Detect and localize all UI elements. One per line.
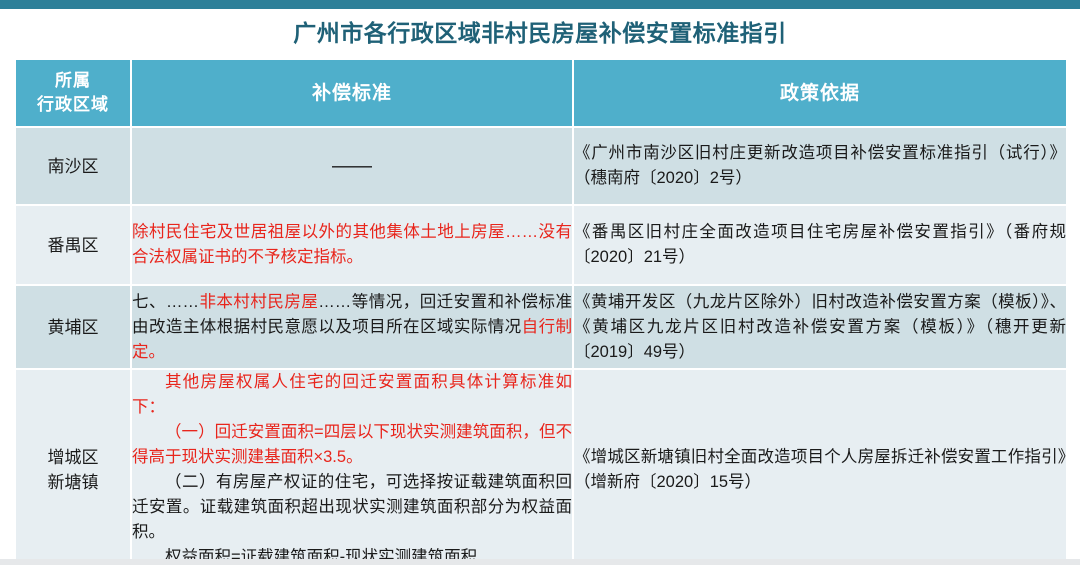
cell-policy: 《黄埔开发区（九龙片区除外）旧村改造补偿安置方案（模板）》、《黄埔区九龙片区旧村… <box>574 286 1066 368</box>
cell-region: 番禺区 <box>16 206 130 284</box>
cell-policy: 《广州市南沙区旧村庄更新改造项目补偿安置标准指引（试行）》（穗南府〔2020〕2… <box>574 128 1066 204</box>
header-row: 所属 行政区域 补偿标准 政策依据 <box>16 60 1066 126</box>
table-header: 所属 行政区域 补偿标准 政策依据 <box>16 60 1066 126</box>
column-header-region-line2: 行政区域 <box>16 93 130 117</box>
cell-policy: 《番禺区旧村庄全面改造项目住宅房屋补偿安置指引》（番府规〔2020〕21号） <box>574 206 1066 284</box>
column-header-standard: 补偿标准 <box>132 60 572 126</box>
cell-region: 南沙区 <box>16 128 130 204</box>
standard-paragraph: 除村民住宅及世居祖屋以外的其他集体土地上房屋……没有合法权属证书的不予核定指标。 <box>132 220 572 270</box>
table-row: 番禺区 除村民住宅及世居祖屋以外的其他集体土地上房屋……没有合法权属证书的不予核… <box>16 206 1066 284</box>
document-page: 广州市各行政区域非村民房屋补偿安置标准指引 所属 行政区域 补偿标准 政策依据 … <box>0 0 1080 565</box>
standard-paragraph-3: （二）有房屋产权证的住宅，可选择按证载建筑面积回迁安置。证载建筑面积超出现状实测… <box>132 470 572 545</box>
top-accent-bar <box>0 0 1080 9</box>
compensation-standards-table: 所属 行政区域 补偿标准 政策依据 南沙区 —— 《广州市南沙区旧村庄更新改造项… <box>14 58 1068 565</box>
standard-segment-red: 除村民住宅及世居祖屋以外的其他集体土地上房屋……没有合法权属证书的不予核定指标。 <box>132 223 572 266</box>
standard-paragraph: 七、……非本村村民房屋……等情况，回迁安置和补偿标准由改造主体根据村民意愿以及项… <box>132 290 572 365</box>
standard-paragraph-2: （一）回迁安置面积=四层以下现状实测建筑面积，但不得高于现状实测建基面积×3.5… <box>132 420 572 470</box>
cell-standard: 其他房屋权属人住宅的回迁安置面积具体计算标准如下： （一）回迁安置面积=四层以下… <box>132 370 572 565</box>
cell-region: 增城区 新塘镇 <box>16 370 130 565</box>
page-title: 广州市各行政区域非村民房屋补偿安置标准指引 <box>0 18 1080 48</box>
table-row: 南沙区 —— 《广州市南沙区旧村庄更新改造项目补偿安置标准指引（试行）》（穗南府… <box>16 128 1066 204</box>
cell-region: 黄埔区 <box>16 286 130 368</box>
cell-standard: 除村民住宅及世居祖屋以外的其他集体土地上房屋……没有合法权属证书的不予核定指标。 <box>132 206 572 284</box>
column-header-policy: 政策依据 <box>574 60 1066 126</box>
cell-standard: 七、……非本村村民房屋……等情况，回迁安置和补偿标准由改造主体根据村民意愿以及项… <box>132 286 572 368</box>
table-body: 南沙区 —— 《广州市南沙区旧村庄更新改造项目补偿安置标准指引（试行）》（穗南府… <box>16 128 1066 565</box>
cell-region-line2: 新塘镇 <box>16 470 130 495</box>
column-header-region-line1: 所属 <box>16 69 130 93</box>
cell-policy: 《增城区新塘镇旧村全面改造项目个人房屋拆迁补偿安置工作指引》（增新府〔2020〕… <box>574 370 1066 565</box>
table-row: 增城区 新塘镇 其他房屋权属人住宅的回迁安置面积具体计算标准如下： （一）回迁安… <box>16 370 1066 565</box>
table-row: 黄埔区 七、……非本村村民房屋……等情况，回迁安置和补偿标准由改造主体根据村民意… <box>16 286 1066 368</box>
cell-standard: —— <box>132 128 572 204</box>
standard-segment-2-highlight: 非本村村民房屋 <box>199 293 318 311</box>
column-header-region: 所属 行政区域 <box>16 60 130 126</box>
cell-region-line1: 增城区 <box>16 445 130 470</box>
standard-segment-1: 七、…… <box>132 293 199 311</box>
standard-paragraph-1: 其他房屋权属人住宅的回迁安置面积具体计算标准如下： <box>132 370 572 420</box>
bottom-divider <box>0 559 1080 565</box>
